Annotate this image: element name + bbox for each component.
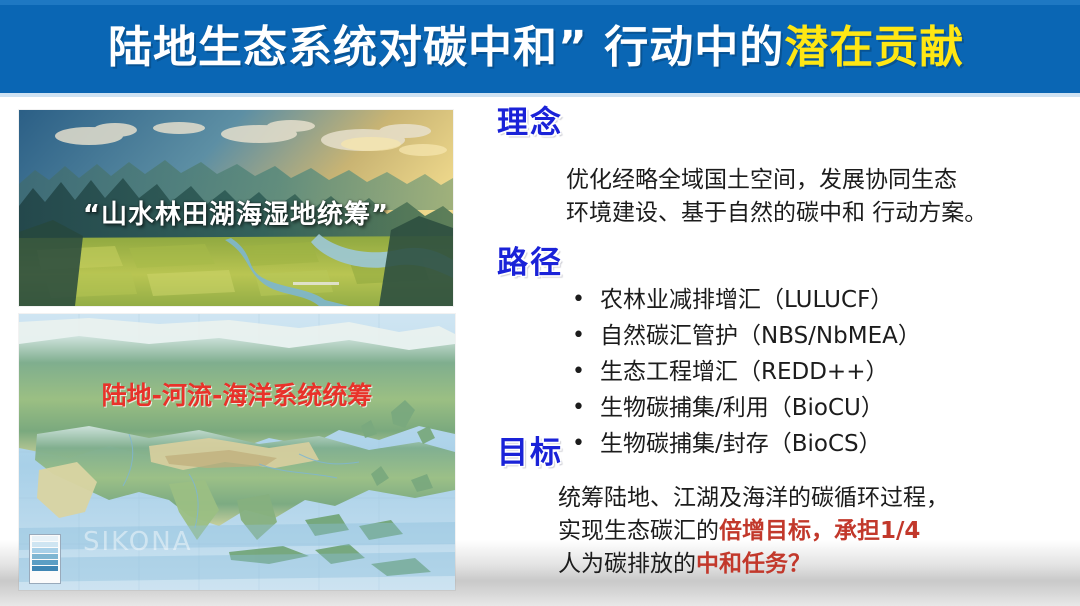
section-paragraph-linian: 优化经略全域国土空间，发展协同生态 环境建设、基于自然的碳中和 行动方案。 bbox=[566, 164, 1076, 230]
section-heading-linian: 理念 bbox=[497, 108, 563, 139]
list-item: • 生态工程增汇（REDD++） bbox=[572, 354, 1072, 390]
list-item: • 生物碳捕集/封存（BioCS） bbox=[572, 426, 1072, 462]
bullet-dot-icon: • bbox=[572, 282, 600, 318]
section-paragraph-mubiao: 统筹陆地、江湖及海洋的碳循环过程，实现生态碳汇的倍增目标，承担1/4人为碳排放的… bbox=[558, 482, 1078, 581]
goal-line-3-plain: 人为碳排放的 bbox=[558, 551, 696, 577]
page-title: 陆地生态系统对碳中和” 行动中的 潜在贡献 bbox=[108, 16, 1008, 80]
path-bullet-list: • 农林业减排增汇（LULUCF） • 自然碳汇管护（NBS/NbMEA） • … bbox=[572, 282, 1072, 462]
page-title-main: 陆地生态系统对碳中和” 行动中的 bbox=[108, 26, 784, 70]
slide-root: 陆地生态系统对碳中和” 行动中的 潜在贡献 bbox=[0, 0, 1080, 606]
section-heading-lujing: 路径 bbox=[497, 248, 563, 279]
landscape-photo-caption: “山水林田湖海湿地统筹” bbox=[19, 194, 453, 231]
title-bar: 陆地生态系统对碳中和” 行动中的 潜在贡献 bbox=[0, 0, 1080, 97]
list-item-label: 农林业减排增汇（LULUCF） bbox=[600, 282, 893, 318]
asia-map-caption: 陆地-河流-海洋系统统筹 bbox=[19, 376, 455, 412]
goal-line-2-plain: 实现生态碳汇的 bbox=[558, 518, 719, 544]
list-item: • 生物碳捕集/利用（BioCU） bbox=[572, 390, 1072, 426]
list-item-label: 生物碳捕集/利用（BioCU） bbox=[600, 390, 884, 426]
list-item: • 自然碳汇管护（NBS/NbMEA） bbox=[572, 318, 1072, 354]
list-item-label: 生物碳捕集/封存（BioCS） bbox=[600, 426, 882, 462]
asia-map-graphic: SIKONA bbox=[19, 314, 455, 590]
page-title-highlight: 潜在贡献 bbox=[784, 26, 964, 70]
list-item-label: 生态工程增汇（REDD++） bbox=[600, 354, 888, 390]
section-heading-mubiao: 目标 bbox=[497, 438, 563, 469]
landscape-photo: “山水林田湖海湿地统筹” bbox=[19, 110, 453, 306]
goal-line-1: 统筹陆地、江湖及海洋的碳循环过程， bbox=[558, 485, 949, 511]
bullet-dot-icon: • bbox=[572, 390, 600, 426]
bullet-dot-icon: • bbox=[572, 426, 600, 462]
asia-map-image: SIKONA 陆地-河流-海洋系统统筹 bbox=[19, 314, 455, 590]
goal-line-3-emphasis: 中和任务？ bbox=[696, 551, 811, 577]
bullet-dot-icon: • bbox=[572, 354, 600, 390]
list-item: • 农林业减排增汇（LULUCF） bbox=[572, 282, 1072, 318]
bullet-dot-icon: • bbox=[572, 318, 600, 354]
goal-line-2-emphasis: 倍增目标，承担1/4 bbox=[719, 518, 920, 544]
map-legend bbox=[29, 534, 61, 584]
svg-text:SIKONA: SIKONA bbox=[83, 527, 193, 557]
list-item-label: 自然碳汇管护（NBS/NbMEA） bbox=[600, 318, 921, 354]
